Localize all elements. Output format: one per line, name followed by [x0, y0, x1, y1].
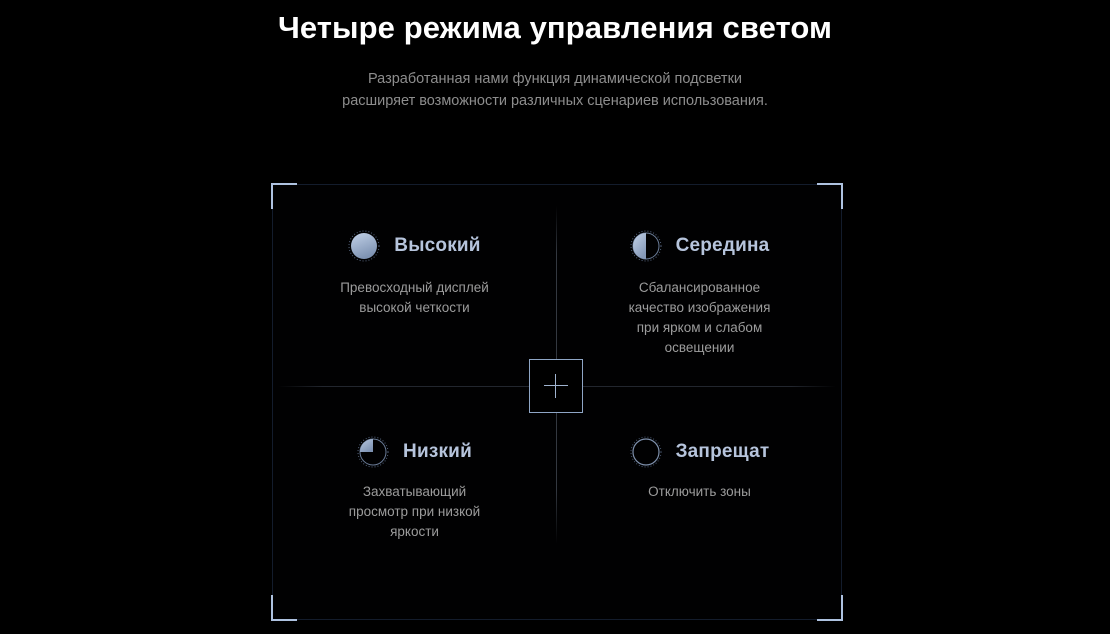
moon-half-icon — [630, 230, 662, 262]
page-subtitle-line-1: Разработанная нами функция динамической … — [0, 68, 1110, 90]
modes-panel: Высокий Превосходный дисплей высокой чет… — [272, 184, 842, 620]
page-subtitle-line-2: расширяет возможности различных сценарие… — [0, 90, 1110, 112]
page-subtitle: Разработанная нами функция динамической … — [0, 68, 1110, 112]
mode-description-low: Захватывающий просмотр при низкой яркост… — [272, 482, 557, 542]
crosshair-plus-icon — [529, 359, 583, 413]
moon-full-icon — [348, 230, 380, 262]
mode-header-off: Запрещат — [557, 402, 842, 468]
mode-description-middle: Сбалансированное качество изображения пр… — [557, 278, 842, 358]
page-header: Четыре режима управления светом Разработ… — [0, 0, 1110, 112]
mode-label-high: Высокий — [394, 235, 480, 257]
desc-line: яркости — [318, 522, 511, 542]
mode-card-high[interactable]: Высокий Превосходный дисплей высокой чет… — [272, 184, 557, 402]
desc-line: при ярком и слабом — [603, 318, 796, 338]
mode-label-low: Низкий — [403, 441, 472, 463]
page-title: Четыре режима управления светом — [0, 6, 1110, 50]
mode-description-off: Отключить зоны — [557, 482, 842, 502]
mode-header-middle: Середина — [557, 184, 842, 262]
desc-line: Сбалансированное — [603, 278, 796, 298]
mode-header-high: Высокий — [272, 184, 557, 262]
mode-description-high: Превосходный дисплей высокой четкости — [272, 278, 557, 318]
mode-card-low[interactable]: Низкий Захватывающий просмотр при низкой… — [272, 402, 557, 620]
desc-line: Отключить зоны — [603, 482, 796, 502]
moon-empty-icon — [630, 436, 662, 468]
desc-line: Захватывающий — [318, 482, 511, 502]
mode-label-middle: Середина — [676, 235, 770, 257]
mode-label-off: Запрещат — [676, 441, 770, 463]
desc-line: высокой четкости — [318, 298, 511, 318]
mode-card-middle[interactable]: Середина Сбалансированное качество изобр… — [557, 184, 842, 402]
desc-line: качество изображения — [603, 298, 796, 318]
desc-line: Превосходный дисплей — [318, 278, 511, 298]
desc-line: просмотр при низкой — [318, 502, 511, 522]
moon-quarter-icon — [357, 436, 389, 468]
mode-header-low: Низкий — [272, 402, 557, 468]
desc-line: освещении — [603, 338, 796, 358]
mode-card-off[interactable]: Запрещат Отключить зоны — [557, 402, 842, 620]
